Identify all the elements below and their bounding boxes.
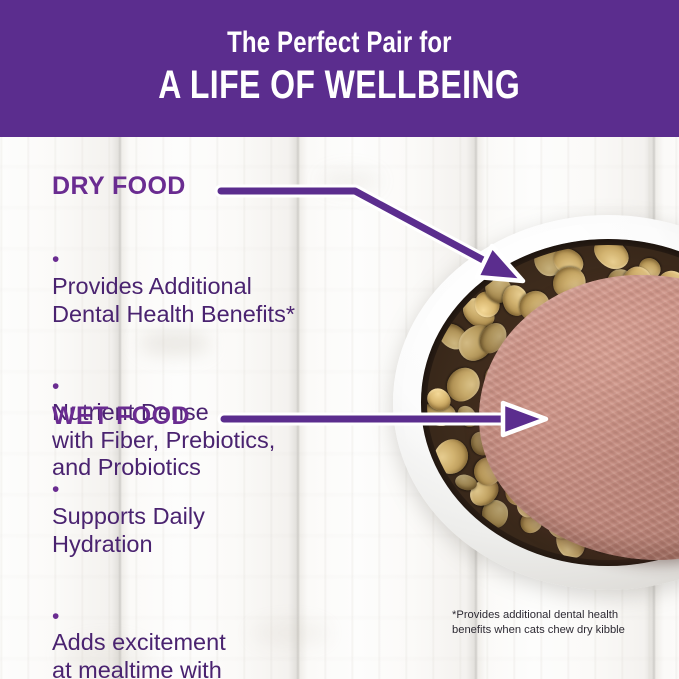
list-item: • Supports Daily Hydration — [52, 448, 226, 558]
bullet-text: Provides Additional Dental Health Benefi… — [52, 273, 295, 326]
wood-blotch — [250, 620, 330, 646]
wood-blotch — [320, 170, 380, 192]
bullet-dot: • — [52, 248, 59, 271]
dry-food-heading: DRY FOOD — [52, 172, 295, 201]
bullet-text: Supports Daily Hydration — [52, 503, 205, 556]
header-title-line2: A LIFE OF WELLBEING — [159, 65, 521, 106]
header-title-line1: The Perfect Pair for — [227, 27, 452, 59]
footnote-text: *Provides additional dental health benef… — [452, 608, 667, 639]
pate-texture — [479, 275, 679, 560]
product-infographic: The Perfect Pair for A LIFE OF WELLBEING… — [0, 0, 679, 679]
bullet-dot: • — [52, 478, 59, 501]
wet-food-heading: WET FOOD — [52, 402, 226, 431]
bullet-dot: • — [52, 375, 59, 398]
bullet-dot: • — [52, 605, 59, 628]
bullet-text: Adds excitement at mealtime with differe… — [52, 629, 226, 679]
wet-food-pate — [479, 275, 679, 560]
header-banner: The Perfect Pair for A LIFE OF WELLBEING — [0, 0, 679, 137]
wet-food-bullet-list: • Supports Daily Hydration • Adds excite… — [52, 448, 226, 679]
kibble-piece — [454, 402, 481, 430]
list-item: • Provides Additional Dental Health Bene… — [52, 218, 295, 328]
wet-food-section: WET FOOD • Supports Daily Hydration • Ad… — [52, 402, 226, 679]
food-bowl-photo — [393, 215, 679, 590]
list-item: • Adds excitement at mealtime with diffe… — [52, 574, 226, 679]
